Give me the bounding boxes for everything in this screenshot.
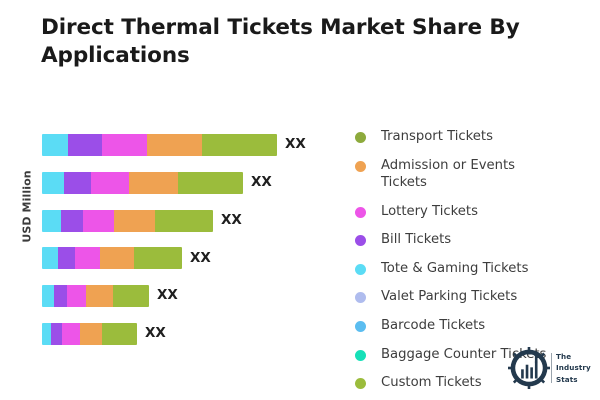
stacked-bar[interactable]	[42, 210, 213, 232]
legend-item-label: Lottery Tickets	[381, 203, 478, 220]
y-axis-title: USD Million	[21, 152, 34, 262]
legend-item[interactable]: Valet Parking Tickets	[355, 288, 517, 305]
legend-item-label: Transport Tickets	[381, 128, 493, 145]
legend-color-swatch	[355, 350, 366, 361]
legend-item[interactable]: Bill Tickets	[355, 231, 451, 248]
stacked-bar[interactable]	[42, 134, 277, 156]
watermark-divider	[551, 353, 552, 383]
watermark-line-3: Stats	[556, 374, 591, 385]
legend-item-label: Custom Tickets	[381, 374, 482, 391]
legend-item[interactable]: Custom Tickets	[355, 374, 482, 391]
legend-item-label: Valet Parking Tickets	[381, 288, 517, 305]
legend-color-swatch	[355, 264, 366, 275]
bar-segment[interactable]	[42, 323, 51, 345]
legend-color-swatch	[355, 207, 366, 218]
bar-segment[interactable]	[42, 134, 68, 156]
legend-item[interactable]: Lottery Tickets	[355, 203, 478, 220]
bar-segment[interactable]	[100, 247, 134, 269]
legend-item[interactable]: Admission or Events Tickets	[355, 157, 515, 192]
chart-container: Direct Thermal Tickets Market Share By A…	[0, 0, 600, 400]
bar-segment[interactable]	[42, 247, 58, 269]
stacked-bar[interactable]	[42, 172, 243, 194]
bar-row: XX	[42, 285, 178, 307]
bar-segment[interactable]	[61, 210, 83, 232]
bar-segment[interactable]	[58, 247, 75, 269]
bar-segment[interactable]	[147, 134, 202, 156]
bar-segment[interactable]	[102, 323, 137, 345]
bar-value-label: XX	[157, 289, 178, 303]
legend-color-swatch	[355, 321, 366, 332]
bar-segment[interactable]	[102, 134, 147, 156]
bar-segment[interactable]	[64, 172, 91, 194]
stacked-bar[interactable]	[42, 323, 137, 345]
bar-row: XX	[42, 134, 306, 156]
stacked-bar[interactable]	[42, 285, 149, 307]
legend-color-swatch	[355, 161, 366, 172]
watermark-line-2: Industry	[556, 362, 591, 373]
bar-segment[interactable]	[86, 285, 113, 307]
bar-segment[interactable]	[75, 247, 100, 269]
legend-color-swatch	[355, 378, 366, 389]
bar-row: XX	[42, 323, 166, 345]
bar-value-label: XX	[145, 327, 166, 341]
bar-segment[interactable]	[54, 285, 67, 307]
page-title: Direct Thermal Tickets Market Share By A…	[41, 14, 561, 71]
bar-segment[interactable]	[42, 172, 64, 194]
bar-segment[interactable]	[83, 210, 114, 232]
bar-segment[interactable]	[202, 134, 277, 156]
bar-segment[interactable]	[62, 323, 80, 345]
bar-segment[interactable]	[68, 134, 102, 156]
watermark-logo: The Industry Stats	[508, 346, 594, 390]
plot-area: XXXXXXXXXXXX	[42, 130, 332, 386]
legend-item-label: Admission or Events Tickets	[381, 157, 515, 192]
industry-stats-gear-icon	[508, 347, 550, 389]
bar-segment[interactable]	[51, 323, 62, 345]
bar-segment[interactable]	[134, 247, 182, 269]
watermark-text: The Industry Stats	[556, 351, 591, 384]
bar-segment[interactable]	[67, 285, 86, 307]
bar-segment[interactable]	[178, 172, 243, 194]
bar-row: XX	[42, 172, 272, 194]
bar-segment[interactable]	[42, 285, 54, 307]
bar-value-label: XX	[251, 176, 272, 190]
legend-color-swatch	[355, 235, 366, 246]
bar-row: XX	[42, 247, 211, 269]
legend-item[interactable]: Transport Tickets	[355, 128, 493, 145]
bar-segment[interactable]	[129, 172, 178, 194]
stacked-bar[interactable]	[42, 247, 182, 269]
legend-color-swatch	[355, 132, 366, 143]
bar-segment[interactable]	[80, 323, 102, 345]
legend-item[interactable]: Barcode Tickets	[355, 317, 485, 334]
legend-item-label: Tote & Gaming Tickets	[381, 260, 528, 277]
legend-item-label: Bill Tickets	[381, 231, 451, 248]
bar-segment[interactable]	[113, 285, 149, 307]
bar-segment[interactable]	[42, 210, 61, 232]
legend-item[interactable]: Tote & Gaming Tickets	[355, 260, 528, 277]
bar-row: XX	[42, 210, 242, 232]
legend-item-label: Barcode Tickets	[381, 317, 485, 334]
bar-value-label: XX	[221, 214, 242, 228]
legend-color-swatch	[355, 292, 366, 303]
watermark-line-1: The	[556, 351, 591, 362]
bar-value-label: XX	[285, 138, 306, 152]
bar-segment[interactable]	[91, 172, 129, 194]
bar-value-label: XX	[190, 252, 211, 266]
bar-segment[interactable]	[114, 210, 155, 232]
bar-segment[interactable]	[155, 210, 213, 232]
